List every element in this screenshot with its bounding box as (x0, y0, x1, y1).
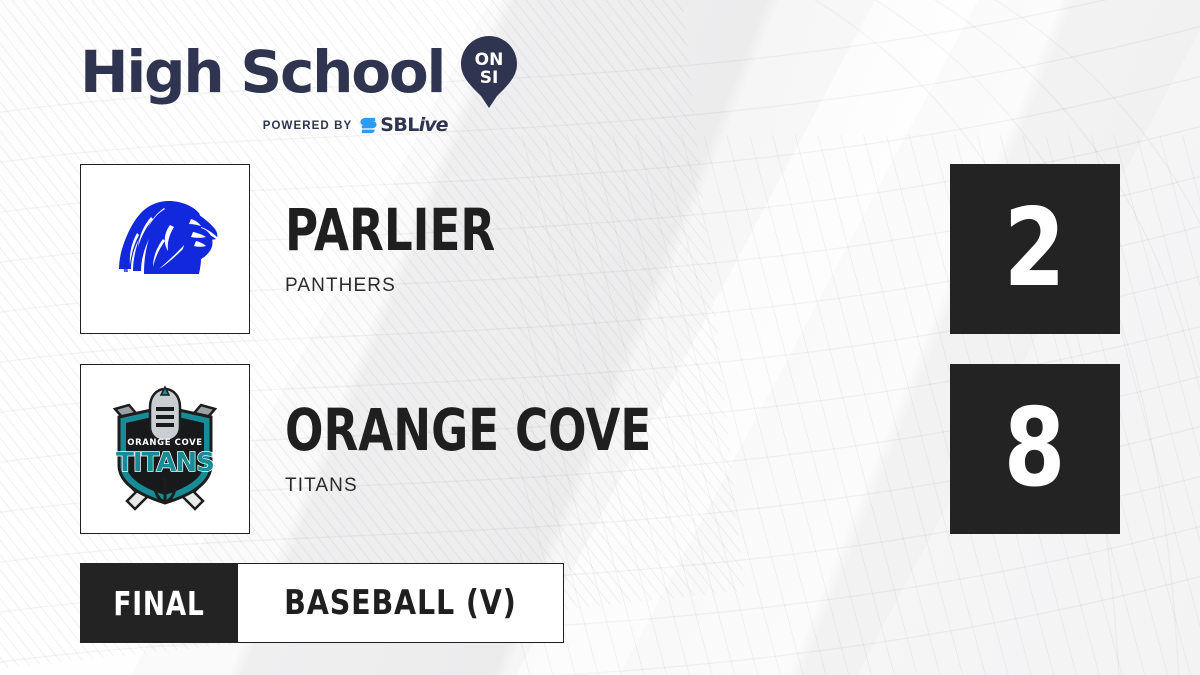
sport-label: BASEBALL (V) (284, 586, 516, 620)
powered-by-label: POWERED BY (263, 120, 353, 132)
team-mascot: PANTHERS (285, 275, 555, 297)
team-text-block: ORANGE COVE TITANS (285, 364, 755, 534)
brand-title-row: High School ON SI (80, 34, 520, 110)
crest-top-text: ORANGE COVE (127, 438, 202, 448)
team-logo-box: ORANGE COVE TITANS (80, 364, 250, 534)
team-score: 2 (1004, 195, 1066, 303)
team-name: PARLIER (285, 201, 495, 259)
knight-helmet-icon (150, 387, 180, 441)
team-score-box: 2 (950, 164, 1120, 334)
brand-header: High School ON SI POWERED BY SBLive (80, 34, 520, 135)
pin-top-label: ON (475, 50, 504, 70)
sblive-word-italic: ive (419, 114, 448, 136)
team-logo-box (80, 164, 250, 334)
game-status-bar: FINAL BASEBALL (V) (80, 563, 564, 643)
team-score: 8 (1004, 395, 1066, 503)
page-title: High School (80, 43, 444, 101)
onsi-map-pin-icon: ON SI (458, 34, 520, 110)
sblive-logo: SBLive (359, 116, 447, 135)
team-score-box: 8 (950, 364, 1120, 534)
sblive-s-mark-icon (359, 116, 378, 135)
team-mascot: TITANS (285, 475, 755, 497)
status-state-label: FINAL (113, 587, 204, 620)
panther-logo-icon (95, 179, 235, 319)
sblive-word-main: SBL (380, 114, 418, 136)
titans-crest-logo-icon: ORANGE COVE TITANS (99, 383, 231, 515)
pin-bottom-label: SI (480, 68, 499, 88)
status-badge: FINAL (80, 563, 238, 643)
team-row: PARLIER PANTHERS 2 (80, 164, 1120, 334)
team-text-block: PARLIER PANTHERS (285, 164, 555, 334)
sport-label-box: BASEBALL (V) (238, 563, 564, 643)
team-name: ORANGE COVE (285, 401, 651, 459)
sblive-wordmark: SBLive (380, 116, 447, 135)
crest-main-text: TITANS (116, 448, 214, 478)
powered-by-row: POWERED BY SBLive (190, 116, 520, 135)
team-row: ORANGE COVE TITANS ORANGE COVE TITANS 8 (80, 364, 1120, 534)
